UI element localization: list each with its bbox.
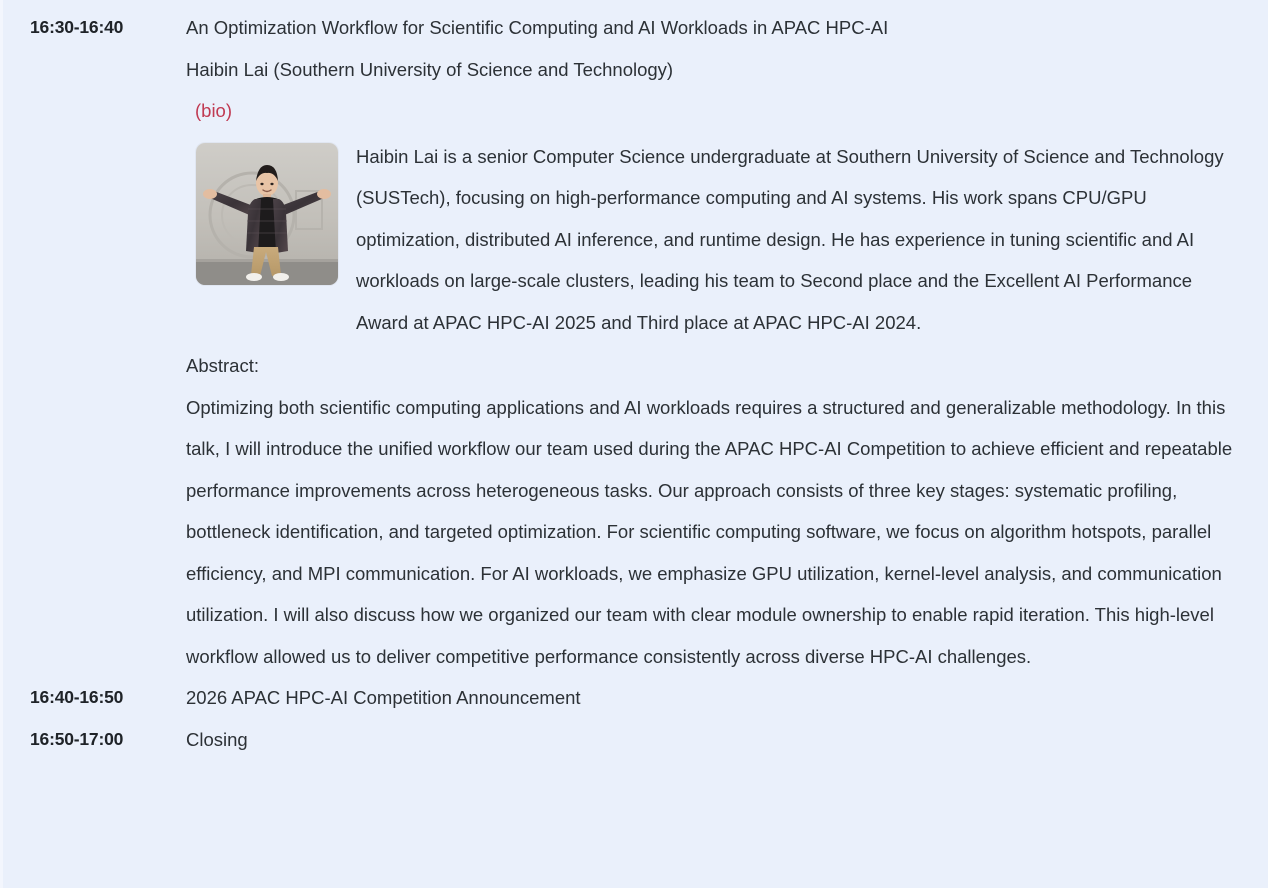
abstract-label: Abstract: (186, 343, 1250, 387)
schedule-row-closing: 16:50-17:00 Closing (0, 719, 1268, 761)
speaker-bio-block: Haibin Lai is a senior Computer Science … (186, 136, 1250, 344)
schedule-table: 16:30-16:40 An Optimization Workflow for… (0, 0, 1268, 760)
speaker-bio-text: Haibin Lai is a senior Computer Science … (356, 136, 1250, 344)
session-speaker: Haibin Lai (Southern University of Scien… (186, 49, 1250, 91)
session-title: An Optimization Workflow for Scientific … (186, 7, 1250, 49)
session-time-2: 16:40-16:50 (0, 677, 158, 719)
speaker-photo (196, 143, 338, 285)
left-edge-strip (0, 0, 3, 888)
schedule-row-session-talk: 16:30-16:40 An Optimization Workflow for… (0, 0, 1268, 677)
session-title-2: 2026 APAC HPC-AI Competition Announcemen… (158, 677, 1268, 719)
bio-toggle-row: (bio) (186, 90, 1250, 132)
bio-toggle-link[interactable]: (bio) (195, 90, 232, 132)
session-time-1: 16:30-16:40 (0, 7, 158, 49)
abstract-text: Optimizing both scientific computing app… (186, 387, 1250, 678)
session-title-3: Closing (158, 719, 1268, 761)
session-time-3: 16:50-17:00 (0, 719, 158, 761)
schedule-row-announcement: 16:40-16:50 2026 APAC HPC-AI Competition… (0, 677, 1268, 719)
session-content-1: An Optimization Workflow for Scientific … (158, 7, 1268, 677)
